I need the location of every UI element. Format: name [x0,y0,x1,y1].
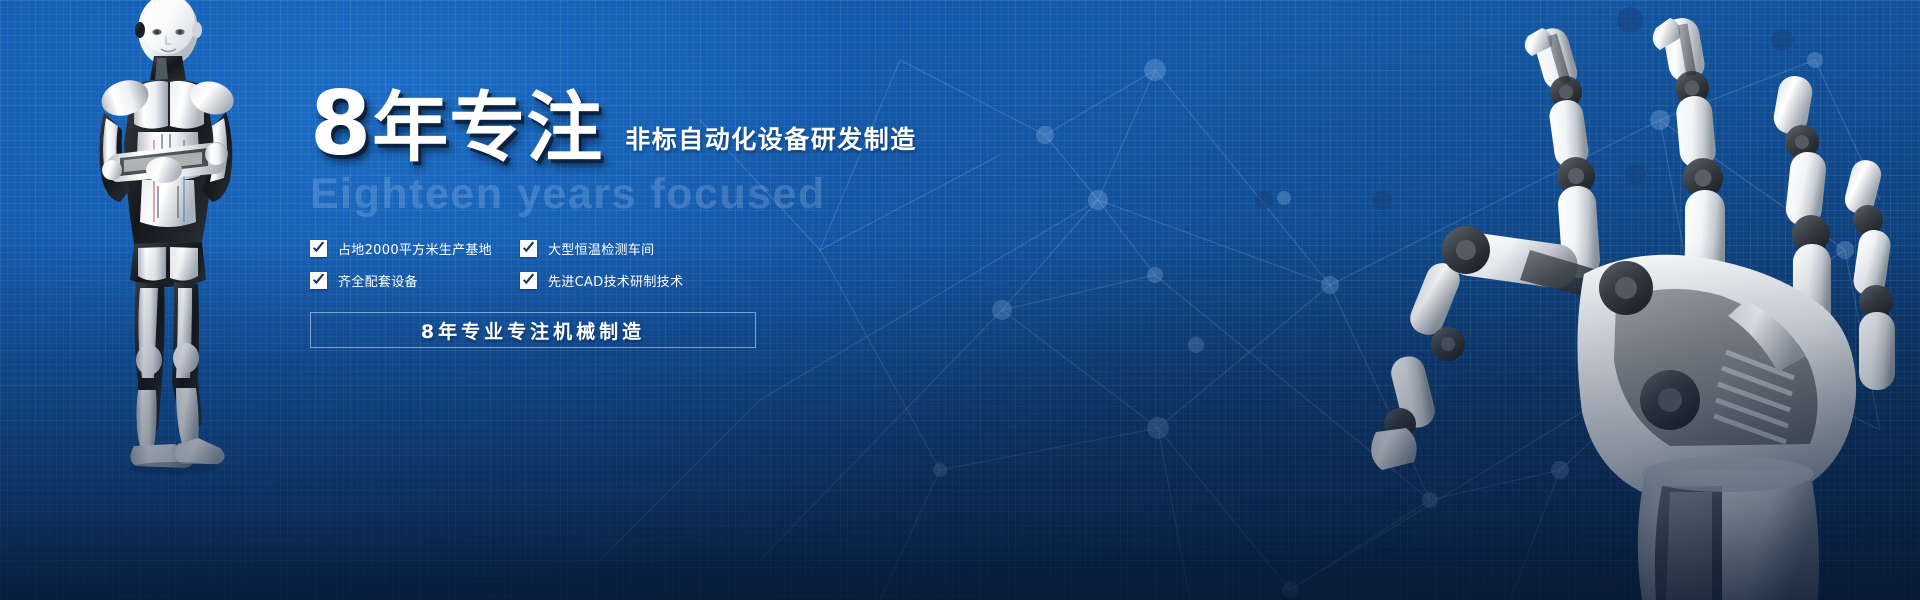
robotic-hand-figure [1370,0,1920,600]
check-icon [520,240,537,257]
check-icon [310,240,327,257]
banner-content: 8年专注 非标自动化设备研发制造 Eighteen years focused … [310,72,1030,348]
headline: 8年专注 [310,80,603,168]
feature-label: 占地2000平方米生产基地 [338,239,492,258]
subtitle-chinese: 非标自动化设备研发制造 [625,120,917,168]
feature-label: 先进CAD技术研制技术 [548,271,683,290]
cta-text: 8年专业专注机械制造 [421,317,645,344]
check-icon [520,272,537,289]
humanoid-android-figure [58,0,278,494]
cta-banner-box: 8年专业专注机械制造 [310,312,756,348]
headline-row: 8年专注 非标自动化设备研发制造 [310,72,1030,168]
headline-number: 8 [310,72,372,175]
feature-label: 大型恒温检测车间 [548,239,654,258]
feature-item: 先进CAD技术研制技术 [520,271,730,290]
feature-item: 大型恒温检测车间 [520,239,730,258]
headline-text: 年专注 [372,83,603,172]
feature-label: 齐全配套设备 [338,271,418,290]
feature-item: 占地2000平方米生产基地 [310,239,520,258]
feature-list: 占地2000平方米生产基地 大型恒温检测车间 齐全配套设备 先进CAD技术研制技… [310,239,730,290]
ghost-english-text: Eighteen years focused [310,172,1030,217]
promo-banner: 8年专注 非标自动化设备研发制造 Eighteen years focused … [0,0,1920,600]
feature-item: 齐全配套设备 [310,271,520,290]
check-icon [310,272,327,289]
